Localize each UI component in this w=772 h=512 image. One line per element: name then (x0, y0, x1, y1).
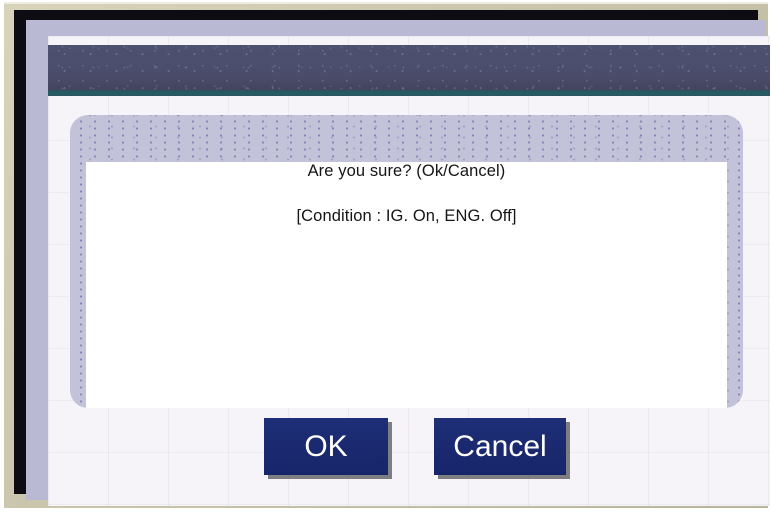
dialog-button-row: OK Cancel (48, 418, 770, 506)
bezel-inner-band: Are you sure? (Ok/Cancel) [Condition : I… (26, 20, 766, 500)
screen-content-area: Are you sure? (Ok/Cancel) [Condition : I… (48, 36, 770, 506)
cancel-button[interactable]: Cancel (434, 418, 566, 475)
device-bezel: Are you sure? (Ok/Cancel) [Condition : I… (14, 10, 758, 494)
title-bar-underline (48, 90, 770, 96)
condition-message: [Condition : IG. On, ENG. Off] (86, 207, 727, 226)
title-bar-texture (48, 45, 770, 96)
ok-button[interactable]: OK (264, 418, 388, 475)
screenshot-root: Are you sure? (Ok/Cancel) [Condition : I… (0, 0, 772, 512)
message-panel: Are you sure? (Ok/Cancel) [Condition : I… (70, 115, 743, 408)
confirmation-message: Are you sure? (Ok/Cancel) (86, 162, 727, 181)
message-panel-body: Are you sure? (Ok/Cancel) [Condition : I… (86, 162, 727, 408)
title-bar (48, 45, 770, 96)
device-outer-frame: Are you sure? (Ok/Cancel) [Condition : I… (4, 2, 768, 508)
